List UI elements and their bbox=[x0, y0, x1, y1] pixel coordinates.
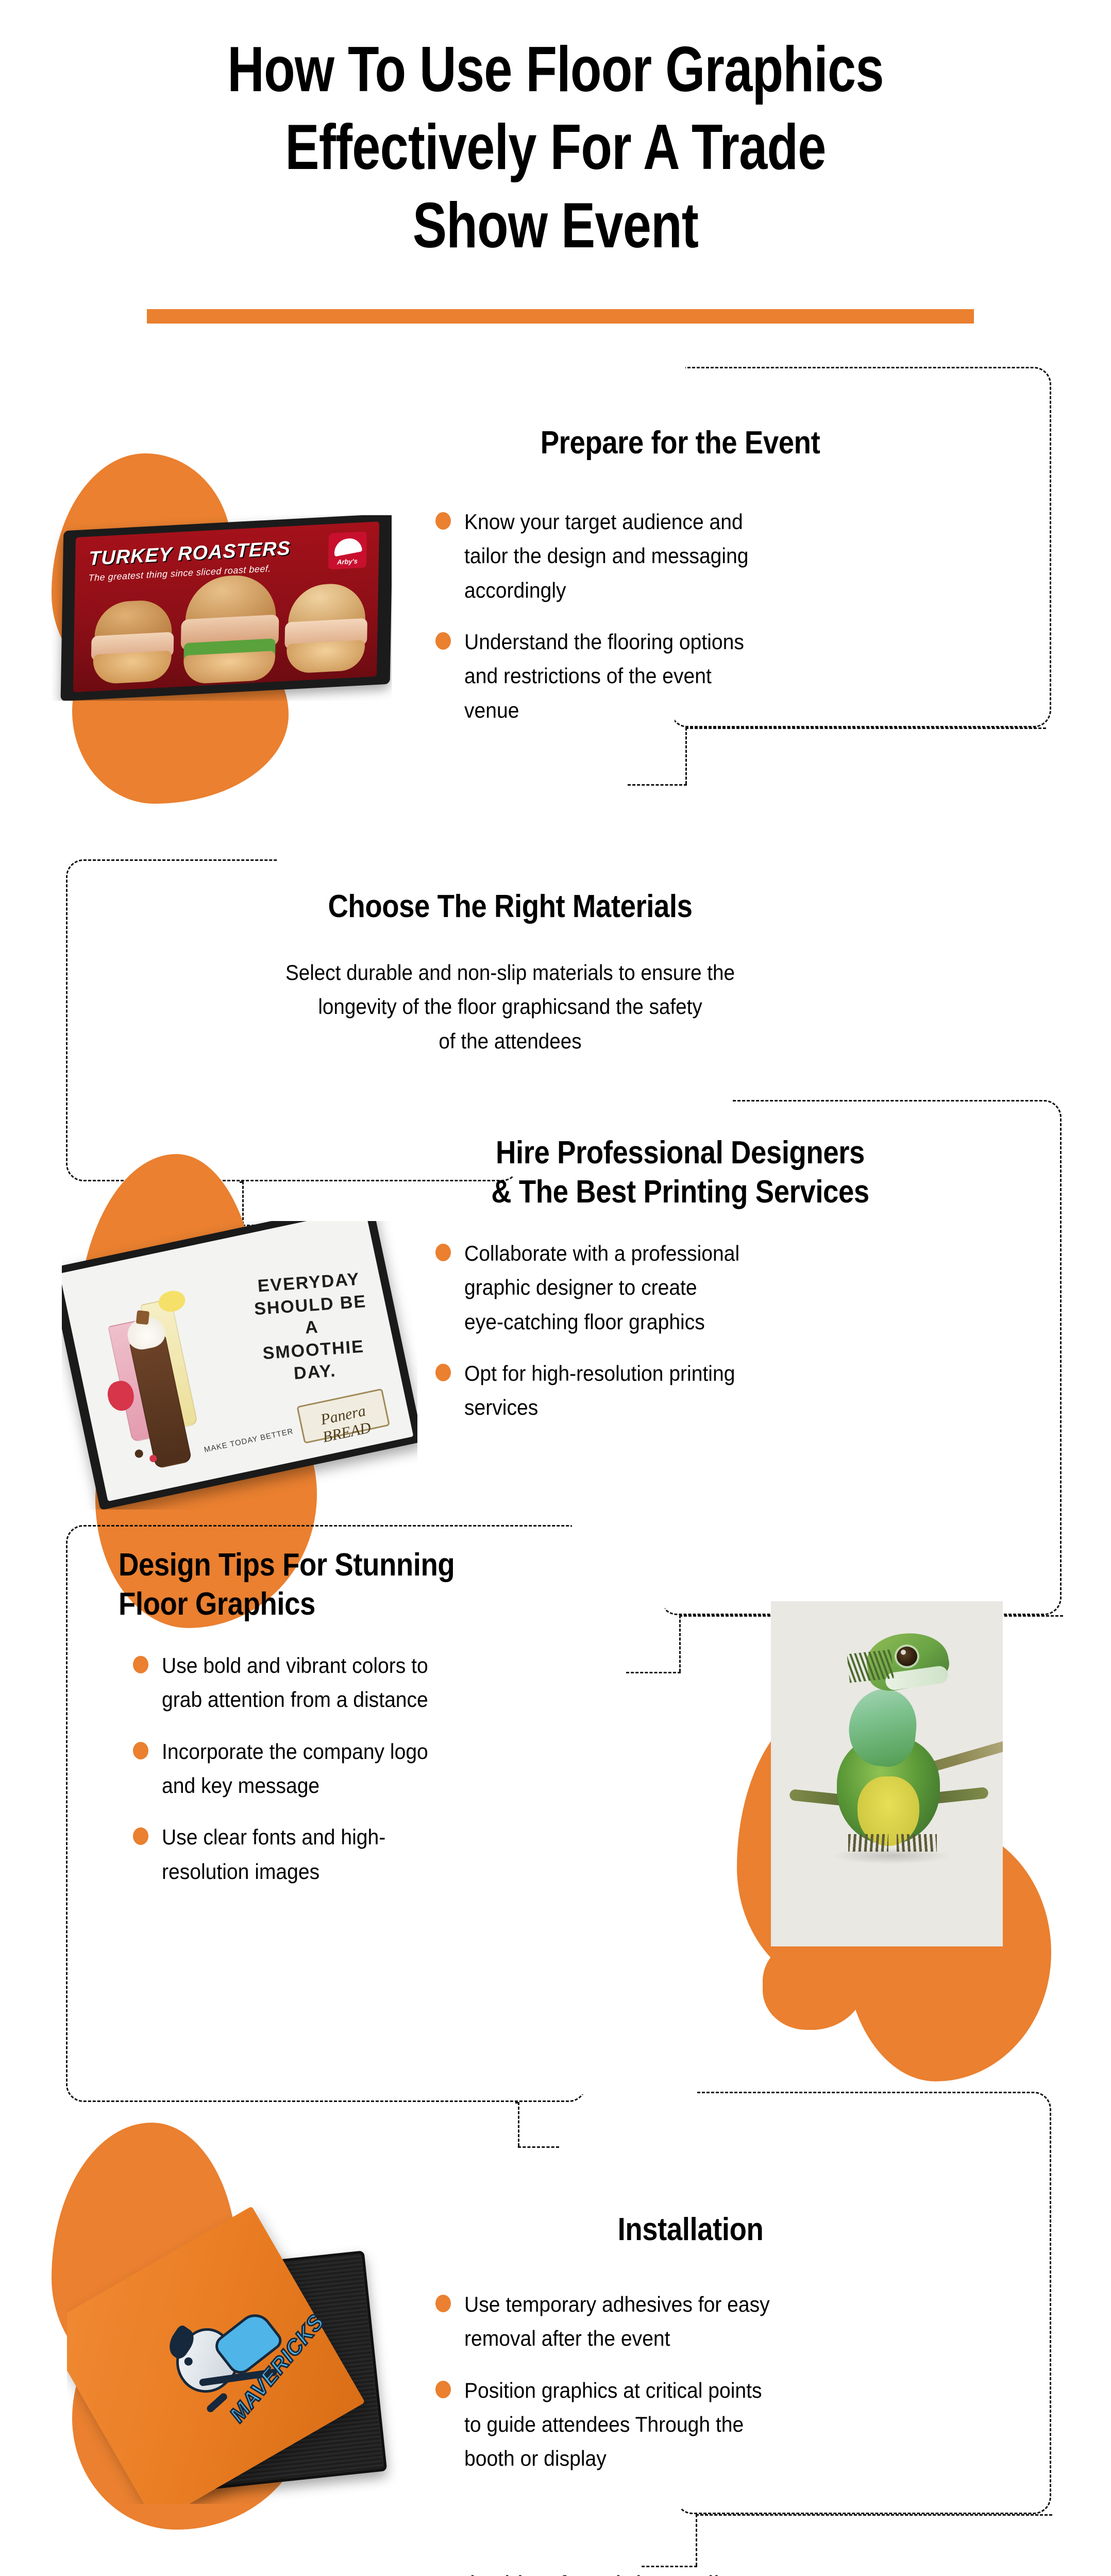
list-item: Collaborate with a professional graphic … bbox=[435, 1236, 1013, 1339]
section-materials-heading: Choose The Right Materials bbox=[175, 887, 846, 926]
photo-brand-panera: Panera BREAD bbox=[300, 1398, 390, 1450]
arbys-hat-icon: Arby's bbox=[328, 532, 367, 570]
mask bbox=[278, 853, 526, 867]
list-item-text: Use bold and vibrant colors to grab atte… bbox=[162, 1649, 428, 1717]
section-design-tips-heading: Design Tips For Stunning Floor Graphics bbox=[119, 1546, 572, 1623]
bullet-dot-icon bbox=[435, 1364, 451, 1381]
list-item: Use temporary adhesives for easy removal… bbox=[435, 2287, 1013, 2356]
mask bbox=[670, 2086, 696, 2100]
mask bbox=[665, 361, 685, 376]
list-item-text: Use clear fonts and high- resolution ima… bbox=[162, 1820, 385, 1889]
list-item: Understand the flooring options and rest… bbox=[435, 625, 1013, 727]
list-item-text: Incorporate the company logo and key mes… bbox=[162, 1735, 428, 1803]
list-item: Position graphics at critical points to … bbox=[435, 2374, 1013, 2476]
section-installation-heading: Installation bbox=[400, 2210, 981, 2249]
photo-panera-smoothie: EVERYDAY SHOULD BE A SMOOTHIE DAY. Paner… bbox=[62, 1221, 417, 1510]
bullet-dot-icon bbox=[133, 1742, 148, 1759]
section-materials-paragraph: Select durable and non-slip materials to… bbox=[159, 956, 861, 1058]
mask bbox=[572, 1519, 594, 1533]
bullet-dot-icon bbox=[133, 1656, 148, 1673]
bullet-dot-icon bbox=[435, 2381, 451, 2398]
list-item-text: Opt for high-resolution printing service… bbox=[464, 1357, 735, 1425]
list-item-text: Collaborate with a professional graphic … bbox=[464, 1236, 739, 1339]
bullet-dot-icon bbox=[435, 632, 451, 650]
photo-green-lizard bbox=[771, 1601, 1003, 1946]
bullet-dot-icon bbox=[435, 2295, 451, 2312]
list-item: Use clear fonts and high- resolution ima… bbox=[133, 1820, 659, 1889]
section-installation-bullets: Use temporary adhesives for easy removal… bbox=[435, 2287, 1013, 2476]
bullet-dot-icon bbox=[133, 1827, 148, 1845]
list-item: Incorporate the company logo and key mes… bbox=[133, 1735, 659, 1803]
section-designers-heading: Hire Professional Designers & The Best P… bbox=[363, 1133, 998, 1211]
bullet-dot-icon bbox=[435, 512, 451, 530]
section-design-tips-step-c bbox=[518, 2146, 559, 2148]
decorative-blob bbox=[763, 1937, 866, 2030]
photo-subcaption-panera: MAKE TODAY BETTER bbox=[203, 1427, 294, 1454]
section-installation-step-a bbox=[696, 2514, 1052, 2516]
list-item: Opt for high-resolution printing service… bbox=[435, 1357, 1013, 1425]
section-designers-bullets: Collaborate with a professional graphic … bbox=[435, 1236, 1013, 1425]
list-item-text: Understand the flooring options and rest… bbox=[464, 625, 744, 727]
list-item-text: Use temporary adhesives for easy removal… bbox=[464, 2287, 770, 2356]
list-item-text: Know your target audience and tailor the… bbox=[464, 505, 749, 607]
section-materials-step-b bbox=[242, 1181, 244, 1225]
divider-top bbox=[147, 309, 974, 324]
list-item-text: Position graphics at critical points to … bbox=[464, 2374, 762, 2476]
mask bbox=[654, 1093, 732, 1108]
photo-turkey-roasters: TURKEY ROASTERS The greatest thing since… bbox=[52, 515, 392, 701]
section-prepare-step-c bbox=[628, 784, 687, 786]
section-prepare-bullets: Know your target audience and tailor the… bbox=[435, 505, 1013, 727]
cta-question: Are You looking for High-Quality Floor G… bbox=[56, 2566, 1055, 2576]
section-prepare-step-a bbox=[685, 727, 1046, 729]
section-prepare-heading: Prepare for the Event bbox=[390, 423, 970, 463]
section-design-tips-bullets: Use bold and vibrant colors to grab atte… bbox=[133, 1649, 659, 1889]
section-prepare-step-b bbox=[685, 727, 687, 784]
photo-mavericks: MAVERICKS bbox=[67, 2195, 407, 2504]
photo-caption-panera: EVERYDAY SHOULD BE A SMOOTHIE DAY. bbox=[249, 1268, 375, 1388]
page-title: How To Use Floor Graphics Effectively Fo… bbox=[111, 31, 1000, 265]
list-item: Use bold and vibrant colors to grab atte… bbox=[133, 1649, 659, 1717]
section-designers-step-b bbox=[679, 1615, 681, 1672]
bullet-dot-icon bbox=[435, 1244, 451, 1261]
list-item: Know your target audience and tailor the… bbox=[435, 505, 1013, 607]
section-design-tips-step-b bbox=[518, 2102, 519, 2146]
section-installation-step-b bbox=[696, 2514, 697, 2566]
